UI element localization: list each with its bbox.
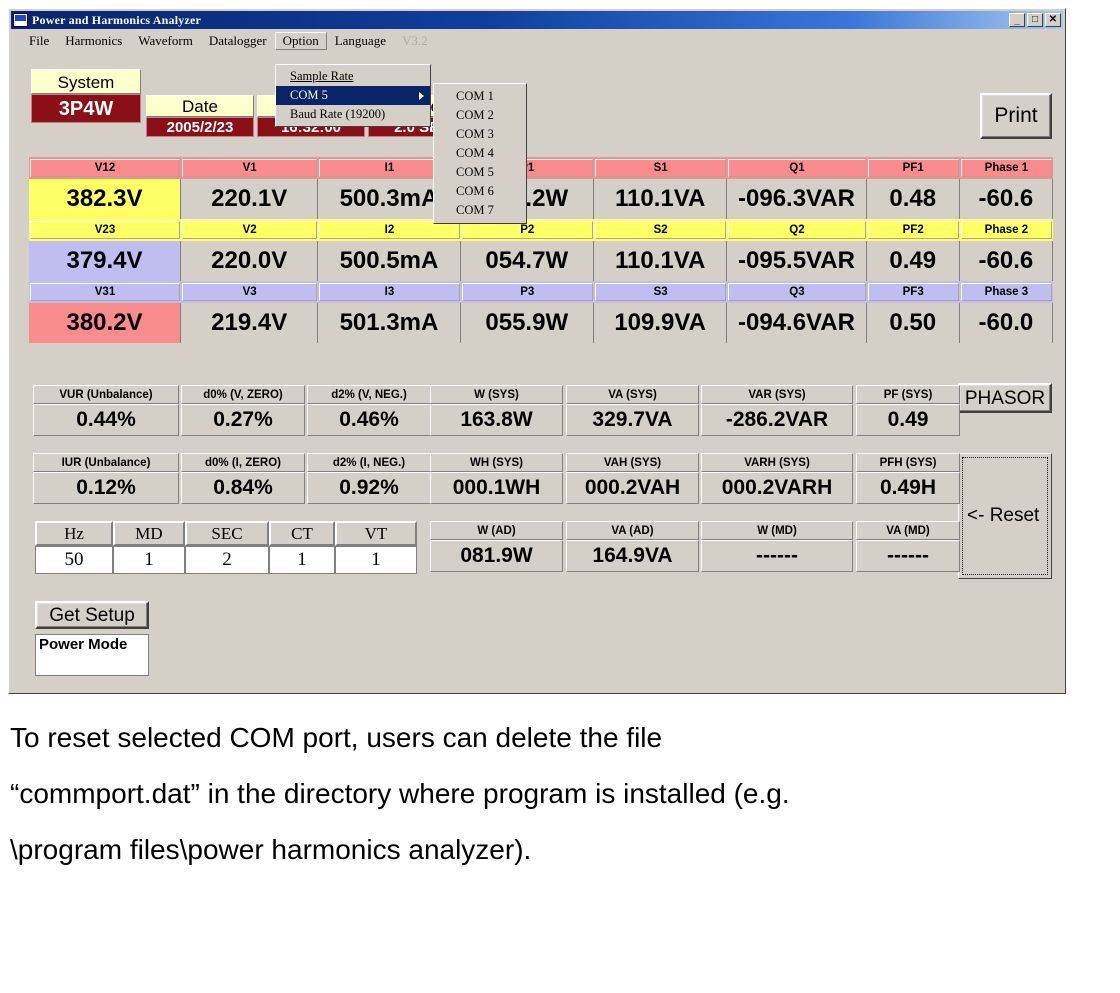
phase-value-i2: 500.5mA xyxy=(318,241,460,281)
unbalance-value: 0.12% xyxy=(33,472,179,504)
phase-header-phase-1: Phase 1 xyxy=(961,159,1052,177)
phase-value-s2: 110.1VA xyxy=(594,241,727,281)
maximize-button[interactable]: □ xyxy=(1027,13,1043,27)
unbalance-cell: d0% (V, ZERO)0.27% xyxy=(181,385,305,436)
minimize-button[interactable]: _ xyxy=(1009,13,1025,27)
unbalance-cell: d2% (V, NEG.)0.46% xyxy=(307,385,431,436)
system-header: W (MD) xyxy=(701,521,853,540)
phase-header-s3: S3 xyxy=(595,283,726,301)
title-bar: Power and Harmonics Analyzer _ □ ✕ xyxy=(11,11,1063,29)
system-label: System xyxy=(31,69,141,94)
system-cell: PF (SYS)0.49 xyxy=(856,385,960,436)
get-setup-button[interactable]: Get Setup xyxy=(35,601,149,629)
phase-value-pf2: 0.49 xyxy=(867,241,960,281)
system-header: VA (MD) xyxy=(856,521,960,540)
com-submenu-item-7[interactable]: COM 7 xyxy=(434,201,526,220)
phase-header-row: V31V3I3P3S3Q3PF3Phase 3 xyxy=(29,281,1053,303)
system-value: 000.2VARH xyxy=(701,472,853,504)
phase-value-s1: 110.1VA xyxy=(594,179,727,219)
system-box: System 3P4W xyxy=(31,69,141,123)
system-cell: VAR (SYS)-286.2VAR xyxy=(701,385,853,436)
com-submenu-item-3[interactable]: COM 3 xyxy=(434,125,526,144)
phase-value-p3: 055.9W xyxy=(461,303,594,343)
com-submenu-item-1[interactable]: COM 1 xyxy=(434,87,526,106)
menu-option[interactable]: Option xyxy=(275,32,327,50)
setting-sec: SEC2 xyxy=(185,521,269,574)
menu-item-com5[interactable]: COM 5 xyxy=(276,86,430,105)
com-submenu-item-5[interactable]: COM 5 xyxy=(434,163,526,182)
menu-item-com5-label: COM 5 xyxy=(290,88,328,102)
menu-item-sample-rate[interactable]: Sample Rate xyxy=(276,67,430,86)
menu-file[interactable]: File xyxy=(21,32,57,50)
system-value: 3P4W xyxy=(31,94,141,123)
print-button[interactable]: Print xyxy=(980,93,1052,139)
phase-value-pf3: 0.50 xyxy=(867,303,960,343)
system-value: 329.7VA xyxy=(566,404,699,436)
unbalance-cell: d2% (I, NEG.)0.92% xyxy=(307,453,431,504)
menu-waveform[interactable]: Waveform xyxy=(130,32,201,50)
phase-header-v2: V2 xyxy=(182,221,317,239)
phase-header-p3: P3 xyxy=(462,283,593,301)
setting-ct: CT1 xyxy=(269,521,335,574)
phase-value-phase-3: -60.0 xyxy=(960,303,1053,343)
phase-value-row: 379.4V220.0V500.5mA054.7W110.1VA-095.5VA… xyxy=(29,241,1053,281)
caption-text: To reset selected COM port, users can de… xyxy=(10,710,1070,878)
unbalance-header: d2% (V, NEG.) xyxy=(307,385,431,404)
unbalance-value: 0.44% xyxy=(33,404,179,436)
com-submenu-item-6[interactable]: COM 6 xyxy=(434,182,526,201)
phase-header-pf3: PF3 xyxy=(868,283,959,301)
menu-item-baud-rate-label: Baud Rate (19200) xyxy=(290,107,385,121)
phase-measurements-table: V12V1I1P1S1Q1PF1Phase 1382.3V220.1V500.3… xyxy=(29,157,1053,343)
setting-header-md: MD xyxy=(113,521,185,546)
system-value: ------ xyxy=(701,540,853,572)
phase-value-q3: -094.6VAR xyxy=(727,303,866,343)
phase-value-v23: 379.4V xyxy=(29,241,181,281)
unbalance-cell: IUR (Unbalance)0.12% xyxy=(33,453,179,504)
setting-md: MD1 xyxy=(113,521,185,574)
setting-value-hz[interactable]: 50 xyxy=(35,546,113,574)
unbalance-cell: d0% (I, ZERO)0.84% xyxy=(181,453,305,504)
system-cell: W (AD)081.9W xyxy=(430,521,563,572)
setting-vt: VT1 xyxy=(335,521,417,574)
system-cell: VARH (SYS)000.2VARH xyxy=(701,453,853,504)
phase-value-pf1: 0.48 xyxy=(867,179,960,219)
phase-value-q1: -096.3VAR xyxy=(727,179,866,219)
phase-header-phase-2: Phase 2 xyxy=(961,221,1052,239)
phase-value-phase-1: -60.6 xyxy=(960,179,1053,219)
setting-header-sec: SEC xyxy=(185,521,269,546)
caption-line-2: “commport.dat” in the directory where pr… xyxy=(10,766,1070,822)
phase-header-i3: I3 xyxy=(319,283,459,301)
system-value: 000.1WH xyxy=(430,472,563,504)
system-cell: WH (SYS)000.1WH xyxy=(430,453,563,504)
caption-line-1: To reset selected COM port, users can de… xyxy=(10,710,1070,766)
system-value: 081.9W xyxy=(430,540,563,572)
system-header: W (AD) xyxy=(430,521,563,540)
system-header: W (SYS) xyxy=(430,385,563,404)
phase-header-v12: V12 xyxy=(30,159,180,177)
system-cell: W (MD)------ xyxy=(701,521,853,572)
phase-value-v2: 220.0V xyxy=(181,241,318,281)
date-value: 2005/2/23 xyxy=(146,117,254,137)
system-cell: PFH (SYS)0.49H xyxy=(856,453,960,504)
phasor-button[interactable]: PHASOR xyxy=(958,383,1052,413)
system-header: PFH (SYS) xyxy=(856,453,960,472)
system-header: VA (AD) xyxy=(566,521,699,540)
system-value: ------ xyxy=(856,540,960,572)
com-submenu-item-2[interactable]: COM 2 xyxy=(434,106,526,125)
phase-value-q2: -095.5VAR xyxy=(727,241,866,281)
setting-hz: Hz50 xyxy=(35,521,113,574)
system-value: 163.8W xyxy=(430,404,563,436)
power-mode-field[interactable]: Power Mode xyxy=(35,634,149,676)
minimize-icon: _ xyxy=(1010,15,1024,27)
com-port-submenu[interactable]: COM 1COM 2COM 3COM 4COM 5COM 6COM 7 xyxy=(433,83,527,224)
window-title: Power and Harmonics Analyzer xyxy=(32,13,201,28)
phase-value-phase-2: -60.6 xyxy=(960,241,1053,281)
system-value: 000.2VAH xyxy=(566,472,699,504)
phase-value-v12: 382.3V xyxy=(29,179,181,219)
phase-value-s3: 109.9VA xyxy=(594,303,727,343)
unbalance-value: 0.84% xyxy=(181,472,305,504)
menu-bar: File Harmonics Waveform Datalogger Optio… xyxy=(11,31,1063,50)
reset-button[interactable]: <- Reset xyxy=(958,453,1052,579)
date-box: Date 2005/2/23 xyxy=(146,95,254,137)
system-cell: W (SYS)163.8W xyxy=(430,385,563,436)
phase-header-s1: S1 xyxy=(595,159,726,177)
system-header: VAH (SYS) xyxy=(566,453,699,472)
phase-header-q3: Q3 xyxy=(728,283,865,301)
unbalance-value: 0.27% xyxy=(181,404,305,436)
system-header: VAR (SYS) xyxy=(701,385,853,404)
menu-language[interactable]: Language xyxy=(327,32,394,50)
system-header: WH (SYS) xyxy=(430,453,563,472)
application-window: Power and Harmonics Analyzer _ □ ✕ File … xyxy=(8,8,1066,694)
system-value: 0.49 xyxy=(856,404,960,436)
system-value: 164.9VA xyxy=(566,540,699,572)
system-cell: VA (MD)------ xyxy=(856,521,960,572)
unbalance-header: d0% (V, ZERO) xyxy=(181,385,305,404)
menu-datalogger[interactable]: Datalogger xyxy=(201,32,275,50)
setting-value-md[interactable]: 1 xyxy=(113,546,185,574)
phase-header-row: V12V1I1P1S1Q1PF1Phase 1 xyxy=(29,157,1053,179)
system-value: 0.49H xyxy=(856,472,960,504)
option-dropdown-menu[interactable]: Sample Rate COM 5 Baud Rate (19200) xyxy=(275,64,431,127)
menu-harmonics[interactable]: Harmonics xyxy=(57,32,130,50)
phase-header-phase-3: Phase 3 xyxy=(961,283,1052,301)
version-label: V3.2 xyxy=(394,32,436,50)
phase-header-v3: V3 xyxy=(182,283,317,301)
phase-value-row: 382.3V220.1V500.3mA053.2W110.1VA-096.3VA… xyxy=(29,179,1053,219)
unbalance-value: 0.46% xyxy=(307,404,431,436)
unbalance-header: IUR (Unbalance) xyxy=(33,453,179,472)
close-icon: ✕ xyxy=(1046,14,1060,26)
phase-header-q1: Q1 xyxy=(728,159,865,177)
phase-header-s2: S2 xyxy=(595,221,726,239)
setting-value-sec[interactable]: 2 xyxy=(185,546,269,574)
menu-item-sample-rate-label: Sample Rate xyxy=(290,69,354,83)
phase-value-v1: 220.1V xyxy=(181,179,318,219)
caption-line-3: \program files\power harmonics analyzer)… xyxy=(10,822,1070,878)
setting-header-ct: CT xyxy=(269,521,335,546)
unbalance-value: 0.92% xyxy=(307,472,431,504)
phase-header-v1: V1 xyxy=(182,159,317,177)
maximize-icon: □ xyxy=(1028,14,1042,26)
phase-value-p2: 054.7W xyxy=(461,241,594,281)
date-label: Date xyxy=(146,95,254,117)
phase-header-v31: V31 xyxy=(30,283,180,301)
phase-header-pf1: PF1 xyxy=(868,159,959,177)
system-header: PF (SYS) xyxy=(856,385,960,404)
system-header: VARH (SYS) xyxy=(701,453,853,472)
setting-header-hz: Hz xyxy=(35,521,113,546)
phase-header-row: V23V2I2P2S2Q2PF2Phase 2 xyxy=(29,219,1053,241)
setting-header-vt: VT xyxy=(335,521,417,546)
phase-header-pf2: PF2 xyxy=(868,221,959,239)
app-icon xyxy=(13,13,28,27)
phase-value-v3: 219.4V xyxy=(181,303,318,343)
unbalance-header: d2% (I, NEG.) xyxy=(307,453,431,472)
system-cell: VA (SYS)329.7VA xyxy=(566,385,699,436)
chevron-right-icon xyxy=(419,92,424,100)
phase-value-i3: 501.3mA xyxy=(318,303,460,343)
unbalance-header: VUR (Unbalance) xyxy=(33,385,179,404)
menu-item-baud-rate[interactable]: Baud Rate (19200) xyxy=(276,105,430,124)
phase-header-v23: V23 xyxy=(30,221,180,239)
reset-button-label: <- Reset xyxy=(959,505,1039,527)
phase-value-row: 380.2V219.4V501.3mA055.9W109.9VA-094.6VA… xyxy=(29,303,1053,343)
system-cell: VAH (SYS)000.2VAH xyxy=(566,453,699,504)
phase-header-q2: Q2 xyxy=(728,221,865,239)
unbalance-cell: VUR (Unbalance)0.44% xyxy=(33,385,179,436)
system-value: -286.2VAR xyxy=(701,404,853,436)
setting-value-vt[interactable]: 1 xyxy=(335,546,417,574)
system-cell: VA (AD)164.9VA xyxy=(566,521,699,572)
close-button[interactable]: ✕ xyxy=(1045,13,1061,27)
phase-value-v31: 380.2V xyxy=(29,303,181,343)
setting-value-ct[interactable]: 1 xyxy=(269,546,335,574)
window-controls: _ □ ✕ xyxy=(1009,13,1061,27)
com-submenu-item-4[interactable]: COM 4 xyxy=(434,144,526,163)
unbalance-header: d0% (I, ZERO) xyxy=(181,453,305,472)
system-header: VA (SYS) xyxy=(566,385,699,404)
